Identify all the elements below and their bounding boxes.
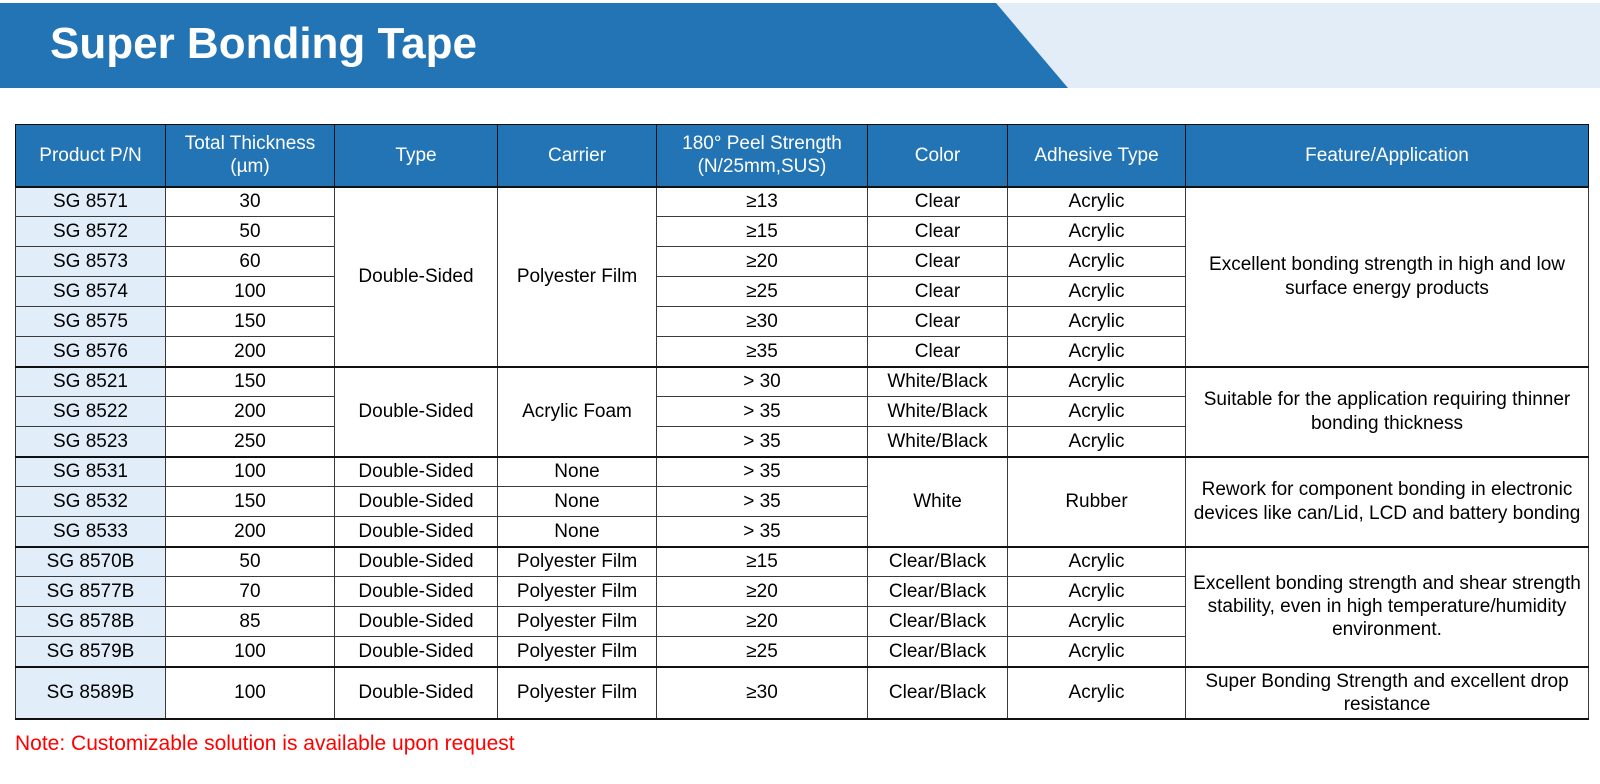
column-header-line1: Total Thickness bbox=[185, 133, 316, 154]
cell-carrier: Polyester Film bbox=[498, 187, 657, 367]
cell-type: Double-Sided bbox=[335, 487, 498, 517]
cell-color: Clear/Black bbox=[868, 577, 1008, 607]
cell-type: Double-Sided bbox=[335, 367, 498, 457]
cell-peel-strength: ≥30 bbox=[657, 667, 868, 719]
cell-feature-application: Rework for component bonding in electron… bbox=[1186, 457, 1589, 547]
cell-adhesive-type: Acrylic bbox=[1008, 277, 1186, 307]
cell-adhesive-type: Acrylic bbox=[1008, 307, 1186, 337]
cell-product-pn: SG 8589B bbox=[16, 667, 166, 719]
cell-peel-strength: ≥20 bbox=[657, 577, 868, 607]
cell-product-pn: SG 8522 bbox=[16, 397, 166, 427]
column-header-color: Color bbox=[868, 125, 1008, 187]
cell-peel-strength: > 35 bbox=[657, 457, 868, 487]
cell-peel-strength: ≥35 bbox=[657, 337, 868, 367]
cell-peel-strength: > 35 bbox=[657, 517, 868, 547]
column-header-adhesive-type: Adhesive Type bbox=[1008, 125, 1186, 187]
cell-adhesive-type: Acrylic bbox=[1008, 577, 1186, 607]
cell-adhesive-type: Acrylic bbox=[1008, 637, 1186, 667]
note-text: Note: Customizable solution is available… bbox=[15, 732, 515, 756]
cell-total-thickness: 100 bbox=[166, 457, 335, 487]
cell-color: Clear/Black bbox=[868, 547, 1008, 577]
cell-type: Double-Sided bbox=[335, 577, 498, 607]
cell-total-thickness: 85 bbox=[166, 607, 335, 637]
table-row: SG 8589B100Double-SidedPolyester Film≥30… bbox=[16, 667, 1589, 719]
table-row: SG 8531100Double-SidedNone> 35WhiteRubbe… bbox=[16, 457, 1589, 487]
column-header-line1: Feature/Application bbox=[1305, 145, 1469, 166]
cell-adhesive-type: Acrylic bbox=[1008, 547, 1186, 577]
cell-carrier: Polyester Film bbox=[498, 667, 657, 719]
cell-total-thickness: 50 bbox=[166, 547, 335, 577]
page-title: Super Bonding Tape bbox=[50, 14, 477, 74]
cell-peel-strength: > 30 bbox=[657, 367, 868, 397]
cell-total-thickness: 150 bbox=[166, 367, 335, 397]
cell-adhesive-type: Acrylic bbox=[1008, 337, 1186, 367]
cell-peel-strength: ≥13 bbox=[657, 187, 868, 217]
spec-table-body: SG 857130Double-SidedPolyester Film≥13Cl… bbox=[16, 187, 1589, 719]
cell-peel-strength: > 35 bbox=[657, 487, 868, 517]
cell-total-thickness: 100 bbox=[166, 637, 335, 667]
cell-color: White/Black bbox=[868, 397, 1008, 427]
cell-peel-strength: ≥30 bbox=[657, 307, 868, 337]
cell-product-pn: SG 8532 bbox=[16, 487, 166, 517]
cell-product-pn: SG 8571 bbox=[16, 187, 166, 217]
cell-color: Clear bbox=[868, 337, 1008, 367]
column-header-peel-strength: 180° Peel Strength (N/25mm,SUS) bbox=[657, 125, 868, 187]
cell-color: White/Black bbox=[868, 427, 1008, 457]
cell-type: Double-Sided bbox=[335, 667, 498, 719]
cell-adhesive-type: Acrylic bbox=[1008, 217, 1186, 247]
cell-peel-strength: > 35 bbox=[657, 427, 868, 457]
page-banner: Super Bonding Tape bbox=[0, 0, 1600, 90]
column-header-type: Type bbox=[335, 125, 498, 187]
spec-table-header: Product P/N Total Thickness (µm) Type Ca… bbox=[16, 125, 1589, 187]
cell-total-thickness: 60 bbox=[166, 247, 335, 277]
cell-color: Clear/Black bbox=[868, 637, 1008, 667]
cell-total-thickness: 200 bbox=[166, 517, 335, 547]
column-header-line1: Type bbox=[395, 145, 436, 166]
cell-total-thickness: 200 bbox=[166, 397, 335, 427]
cell-type: Double-Sided bbox=[335, 547, 498, 577]
table-row: SG 8521150Double-SidedAcrylic Foam> 30Wh… bbox=[16, 367, 1589, 397]
cell-carrier: Polyester Film bbox=[498, 547, 657, 577]
cell-carrier: Acrylic Foam bbox=[498, 367, 657, 457]
cell-color: White/Black bbox=[868, 367, 1008, 397]
cell-color: Clear bbox=[868, 187, 1008, 217]
column-header-line1: Adhesive Type bbox=[1034, 145, 1158, 166]
cell-type: Double-Sided bbox=[335, 607, 498, 637]
cell-feature-application: Excellent bonding strength in high and l… bbox=[1186, 187, 1589, 367]
column-header-product-pn: Product P/N bbox=[16, 125, 166, 187]
cell-color: Clear/Black bbox=[868, 667, 1008, 719]
cell-total-thickness: 100 bbox=[166, 277, 335, 307]
cell-peel-strength: ≥20 bbox=[657, 607, 868, 637]
cell-total-thickness: 100 bbox=[166, 667, 335, 719]
column-header-line1: Color bbox=[915, 145, 960, 166]
cell-type: Double-Sided bbox=[335, 187, 498, 367]
cell-adhesive-type: Acrylic bbox=[1008, 247, 1186, 277]
table-row: SG 8570B50Double-SidedPolyester Film≥15C… bbox=[16, 547, 1589, 577]
cell-product-pn: SG 8533 bbox=[16, 517, 166, 547]
cell-carrier: Polyester Film bbox=[498, 577, 657, 607]
cell-product-pn: SG 8574 bbox=[16, 277, 166, 307]
cell-peel-strength: ≥25 bbox=[657, 637, 868, 667]
cell-peel-strength: ≥15 bbox=[657, 547, 868, 577]
cell-color: White bbox=[868, 457, 1008, 547]
cell-product-pn: SG 8576 bbox=[16, 337, 166, 367]
column-header-line1: 180° Peel Strength bbox=[682, 133, 842, 154]
cell-color: Clear/Black bbox=[868, 607, 1008, 637]
cell-adhesive-type: Acrylic bbox=[1008, 187, 1186, 217]
cell-adhesive-type: Acrylic bbox=[1008, 667, 1186, 719]
cell-adhesive-type: Acrylic bbox=[1008, 367, 1186, 397]
cell-feature-application: Excellent bonding strength and shear str… bbox=[1186, 547, 1589, 667]
cell-total-thickness: 30 bbox=[166, 187, 335, 217]
column-header-feature-application: Feature/Application bbox=[1186, 125, 1589, 187]
cell-peel-strength: ≥25 bbox=[657, 277, 868, 307]
column-header-line2: (N/25mm,SUS) bbox=[661, 155, 863, 178]
cell-color: Clear bbox=[868, 247, 1008, 277]
cell-total-thickness: 250 bbox=[166, 427, 335, 457]
page-root: Super Bonding Tape Product P/N bbox=[0, 0, 1600, 784]
cell-feature-application: Super Bonding Strength and excellent dro… bbox=[1186, 667, 1589, 719]
table-header-row: Product P/N Total Thickness (µm) Type Ca… bbox=[16, 125, 1589, 187]
cell-product-pn: SG 8579B bbox=[16, 637, 166, 667]
cell-peel-strength: > 35 bbox=[657, 397, 868, 427]
cell-product-pn: SG 8577B bbox=[16, 577, 166, 607]
table-row: SG 857130Double-SidedPolyester Film≥13Cl… bbox=[16, 187, 1589, 217]
cell-adhesive-type: Acrylic bbox=[1008, 397, 1186, 427]
cell-color: Clear bbox=[868, 277, 1008, 307]
column-header-carrier: Carrier bbox=[498, 125, 657, 187]
spec-table-container: Product P/N Total Thickness (µm) Type Ca… bbox=[15, 124, 1588, 720]
cell-product-pn: SG 8575 bbox=[16, 307, 166, 337]
cell-product-pn: SG 8570B bbox=[16, 547, 166, 577]
spec-table: Product P/N Total Thickness (µm) Type Ca… bbox=[15, 124, 1589, 720]
cell-product-pn: SG 8573 bbox=[16, 247, 166, 277]
cell-carrier: Polyester Film bbox=[498, 637, 657, 667]
cell-color: Clear bbox=[868, 307, 1008, 337]
cell-total-thickness: 50 bbox=[166, 217, 335, 247]
cell-type: Double-Sided bbox=[335, 457, 498, 487]
column-header-line2: (µm) bbox=[170, 155, 330, 178]
cell-peel-strength: ≥20 bbox=[657, 247, 868, 277]
cell-adhesive-type: Rubber bbox=[1008, 457, 1186, 547]
cell-carrier: None bbox=[498, 517, 657, 547]
cell-product-pn: SG 8578B bbox=[16, 607, 166, 637]
cell-peel-strength: ≥15 bbox=[657, 217, 868, 247]
column-header-line1: Carrier bbox=[548, 145, 606, 166]
cell-product-pn: SG 8521 bbox=[16, 367, 166, 397]
cell-total-thickness: 200 bbox=[166, 337, 335, 367]
column-header-line1: Product P/N bbox=[39, 145, 141, 166]
cell-carrier: None bbox=[498, 457, 657, 487]
cell-total-thickness: 70 bbox=[166, 577, 335, 607]
cell-adhesive-type: Acrylic bbox=[1008, 607, 1186, 637]
cell-product-pn: SG 8572 bbox=[16, 217, 166, 247]
cell-type: Double-Sided bbox=[335, 637, 498, 667]
cell-carrier: Polyester Film bbox=[498, 607, 657, 637]
cell-product-pn: SG 8523 bbox=[16, 427, 166, 457]
cell-total-thickness: 150 bbox=[166, 487, 335, 517]
cell-color: Clear bbox=[868, 217, 1008, 247]
cell-total-thickness: 150 bbox=[166, 307, 335, 337]
cell-type: Double-Sided bbox=[335, 517, 498, 547]
cell-adhesive-type: Acrylic bbox=[1008, 427, 1186, 457]
cell-product-pn: SG 8531 bbox=[16, 457, 166, 487]
column-header-total-thickness: Total Thickness (µm) bbox=[166, 125, 335, 187]
cell-feature-application: Suitable for the application requiring t… bbox=[1186, 367, 1589, 457]
cell-carrier: None bbox=[498, 487, 657, 517]
